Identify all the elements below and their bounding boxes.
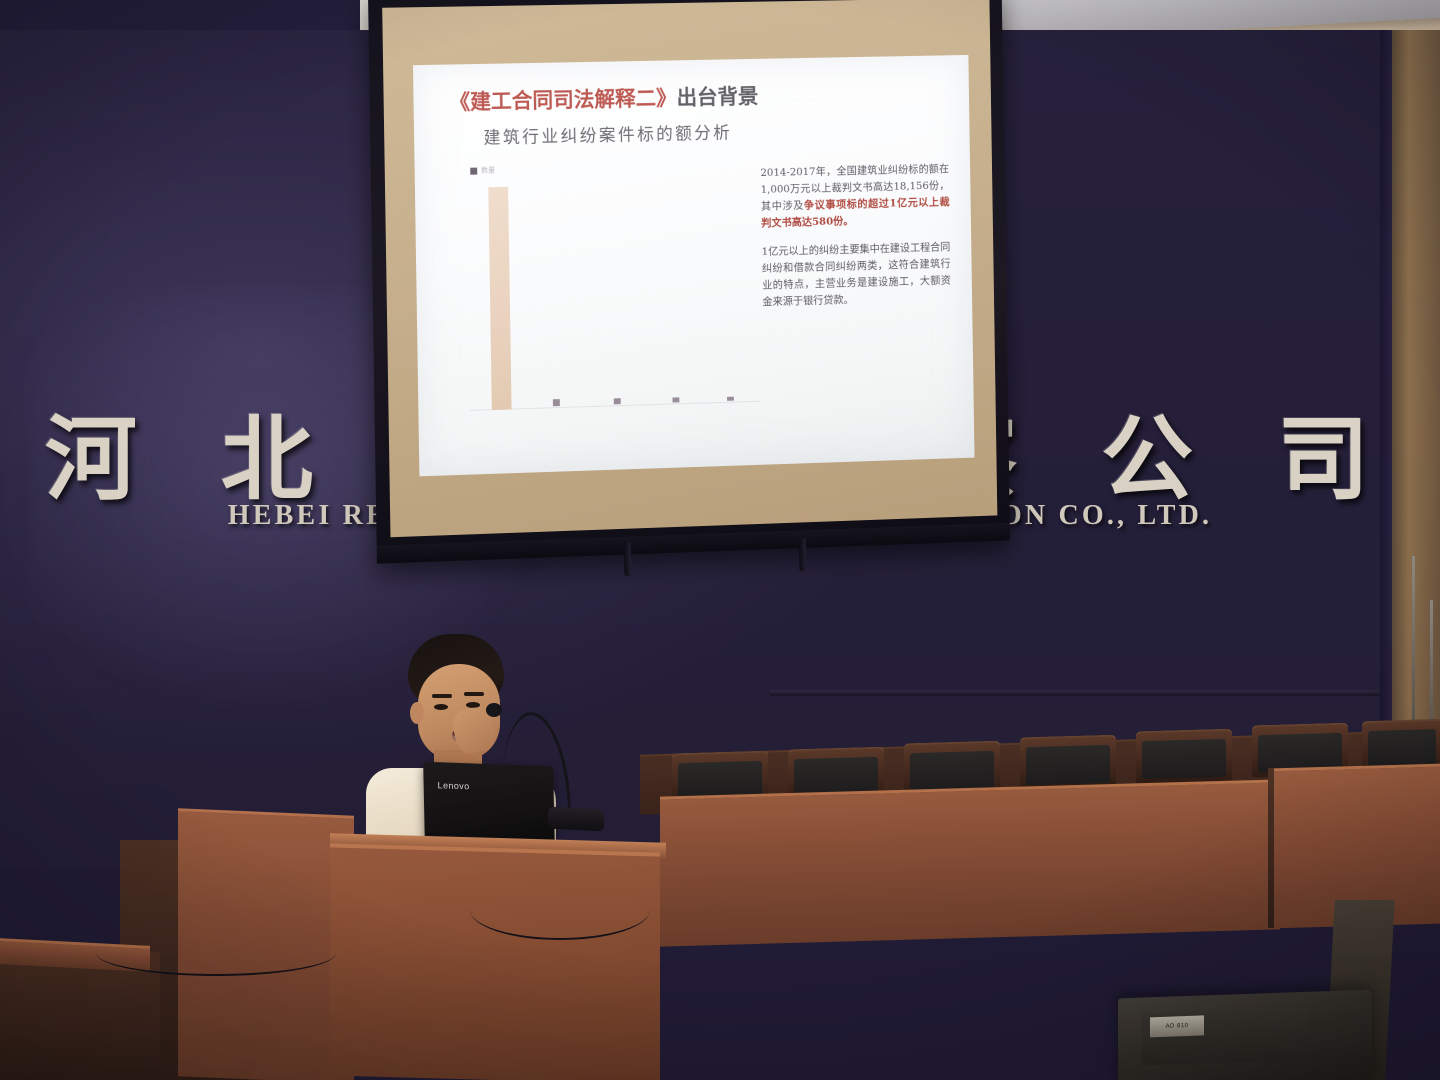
desk-row-front-right: [660, 779, 1280, 946]
chart-plot-area: [466, 175, 764, 411]
slide-title-dark: 出台背景: [676, 84, 758, 109]
slide-title: 《建工合同司法解释二》出台背景: [449, 81, 758, 117]
speaker-model-badge: AD 810: [1150, 1015, 1204, 1037]
bar-chart: 数量: [466, 159, 764, 436]
screen-hook-right: [799, 538, 806, 572]
laptop-brand-label: Lenovo: [438, 780, 470, 791]
presenter-eye-left: [434, 704, 448, 710]
tick-label-4: [721, 397, 722, 403]
slide-paragraph-2: 1亿元以上的纠纷主要集中在建设工程合同纠纷和借款合同纠纷两类，这符合建筑行业的特…: [762, 239, 952, 311]
bar-category-3: [672, 397, 679, 402]
podium: [330, 843, 660, 1080]
slide-subtitle: 建筑行业纠纷案件标的额分析: [483, 118, 732, 148]
chart-legend: 数量: [470, 165, 495, 176]
microphone-capsule-icon: [486, 703, 502, 717]
bar-category-0: [488, 187, 511, 410]
bar-category-4: [727, 397, 734, 401]
presenter-brow-right: [464, 692, 484, 696]
presenter-ear: [410, 702, 424, 724]
cable-run: [96, 930, 336, 976]
chair-cushion: [1026, 745, 1110, 785]
chair-cushion: [910, 751, 994, 791]
screen-hook-left: [624, 542, 631, 576]
legend-label: 数量: [481, 165, 495, 175]
stage-speaker-monitor: AD 810: [1118, 990, 1372, 1080]
presenter-brow-left: [432, 694, 452, 698]
bar-category-2: [614, 398, 621, 404]
tick-label-3: [663, 401, 664, 407]
slide-paragraph-1: 2014-2017年，全国建筑业纠纷标的额在1,000万元以上裁判文书高达18,…: [760, 161, 950, 232]
legend-swatch-icon: [470, 167, 477, 174]
slide-surface: 《建工合同司法解释二》出台背景 建筑行业纠纷案件标的额分析 数量: [413, 55, 975, 476]
slide-body-text: 2014-2017年，全国建筑业纠纷标的额在1,000万元以上裁判文书高达18,…: [760, 161, 951, 323]
chair-seat: [1136, 729, 1232, 784]
conference-room-photo: 河 北 建 筑 勘 察 公 司 HEBEI RESEARCH INSTITUTE…: [0, 0, 1440, 1080]
chair-seat: [1020, 735, 1116, 790]
mic-stand-pole-right: [1412, 556, 1415, 736]
microphone-base: [548, 807, 604, 832]
desk-divider: [1268, 768, 1274, 928]
bar-category-1: [553, 399, 560, 406]
chair-cushion: [1142, 739, 1226, 779]
chair-cushion: [1368, 729, 1436, 769]
wall-panel-seam: [770, 690, 1390, 696]
cable-run: [470, 880, 650, 940]
slide-title-red: 《建工合同司法解释二》: [449, 86, 677, 114]
projection-screen: 《建工合同司法解释二》出台背景 建筑行业纠纷案件标的额分析 数量: [368, 0, 1010, 564]
